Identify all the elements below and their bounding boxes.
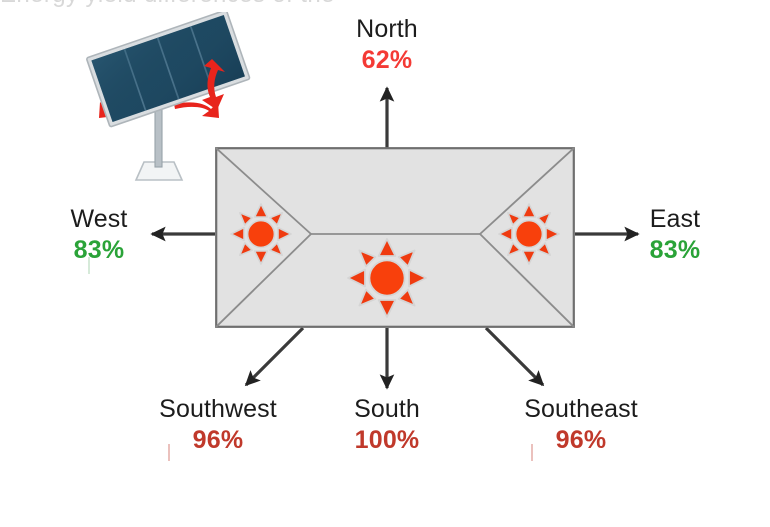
tick-artifact-southwest bbox=[168, 444, 170, 461]
direction-value-north: 62% bbox=[307, 47, 467, 74]
direction-name-east: East bbox=[608, 206, 742, 233]
direction-label-east: East 83% bbox=[608, 206, 742, 264]
arrow-southwest bbox=[246, 328, 303, 385]
direction-label-southwest: Southwest 96% bbox=[122, 396, 314, 454]
sun-icon-east bbox=[499, 204, 559, 264]
direction-name-southwest: Southwest bbox=[122, 396, 314, 423]
direction-value-southwest: 96% bbox=[122, 427, 314, 454]
direction-value-west: 83% bbox=[32, 237, 166, 264]
arrow-southeast bbox=[486, 328, 543, 385]
direction-name-north: North bbox=[307, 16, 467, 43]
clipped-caption-text: Energy yield differences of the bbox=[0, 0, 335, 9]
direction-label-west: West 83% bbox=[32, 206, 166, 264]
direction-value-east: 83% bbox=[608, 237, 742, 264]
diagram-canvas: North 62% West 83% East 83% Southwest 96… bbox=[0, 0, 770, 527]
direction-label-south: South 100% bbox=[317, 396, 457, 454]
direction-label-north: North 62% bbox=[307, 16, 467, 74]
panel-board bbox=[86, 12, 250, 127]
tick-artifact-west bbox=[88, 257, 90, 274]
direction-value-south: 100% bbox=[317, 427, 457, 454]
direction-name-southeast: Southeast bbox=[485, 396, 677, 423]
solar-panel-illustration bbox=[78, 12, 258, 197]
hip-roof-shape bbox=[215, 147, 575, 328]
tick-artifact-southeast bbox=[531, 444, 533, 461]
direction-name-south: South bbox=[317, 396, 457, 423]
sun-icon-west bbox=[231, 204, 291, 264]
direction-name-west: West bbox=[32, 206, 166, 233]
direction-value-southeast: 96% bbox=[485, 427, 677, 454]
sun-icon-center bbox=[348, 239, 426, 317]
direction-label-southeast: Southeast 96% bbox=[485, 396, 677, 454]
